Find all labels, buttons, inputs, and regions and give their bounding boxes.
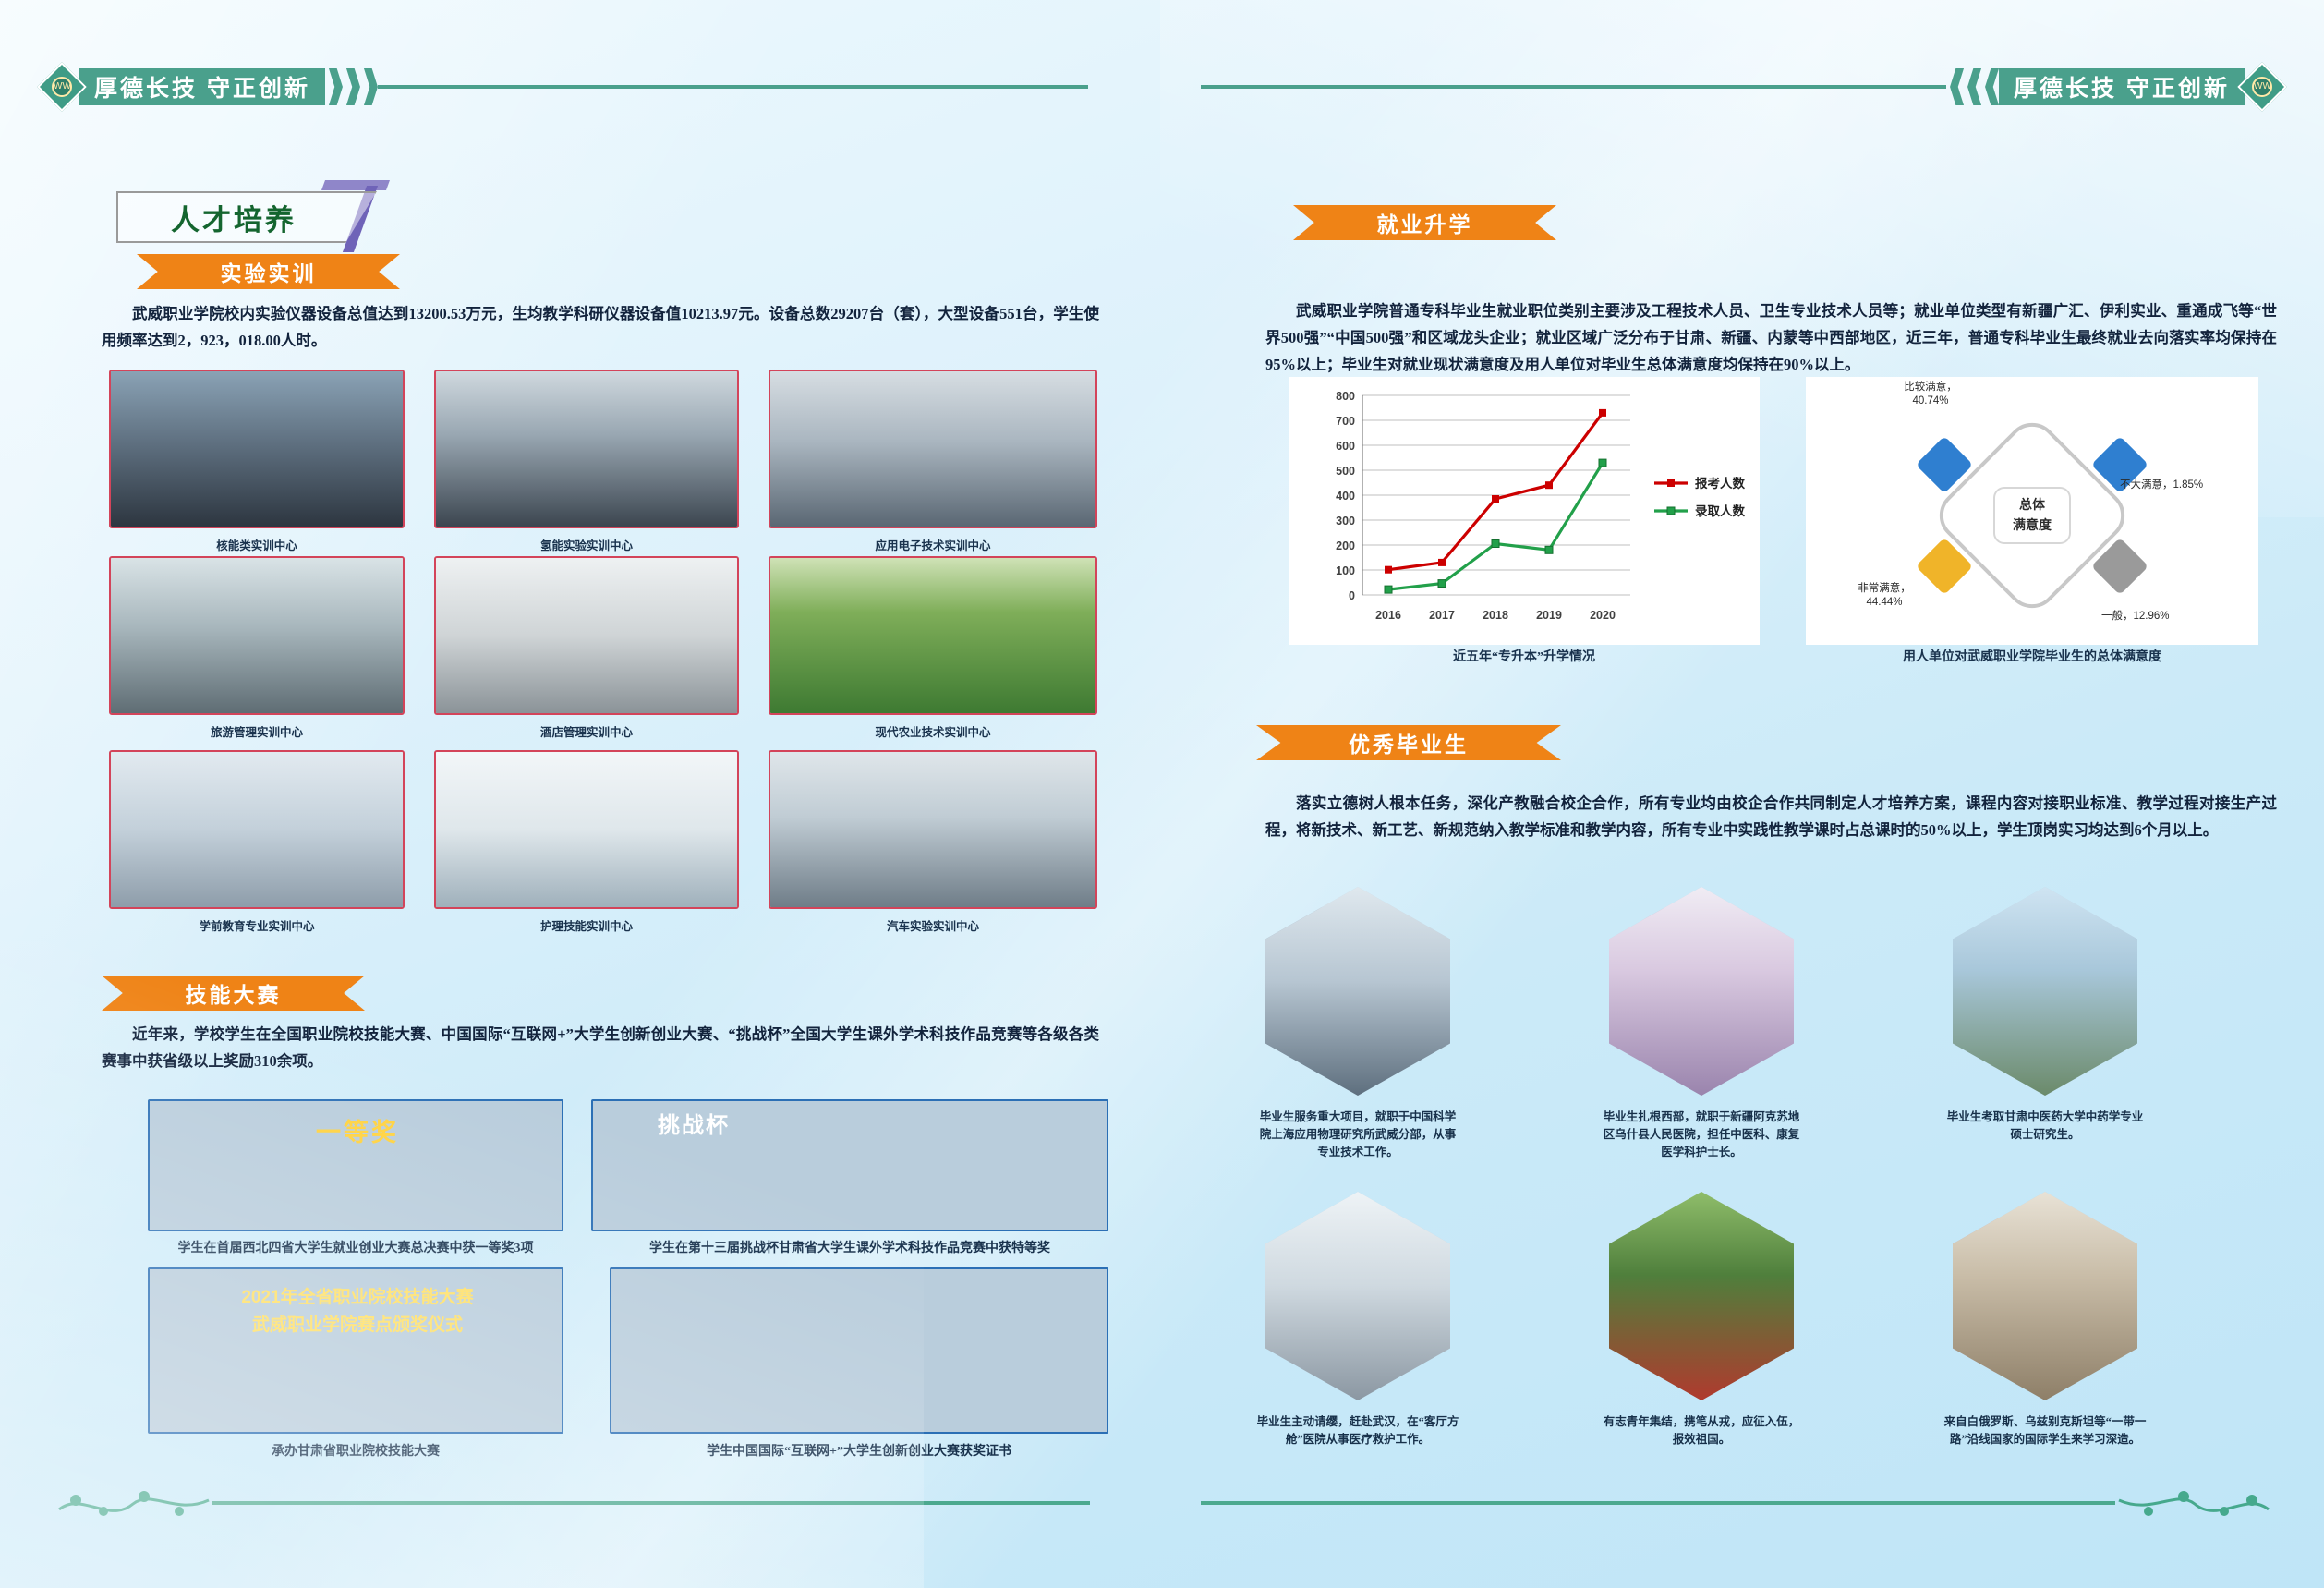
footer-vine-ornament-left — [55, 1487, 212, 1519]
right-footer — [1201, 1487, 2272, 1519]
photo-student-military-enlistment-ceremony — [1609, 1192, 1794, 1400]
caption-hydrogen-energy-training-center: 氢能实验实训中心 — [434, 536, 739, 553]
satisfaction-label-not-satisfied: 不大满意，1.85% — [2120, 479, 2258, 492]
section-title-talent-cultivation: 人才培养 — [116, 191, 377, 243]
caption-provincial-vocational-skills-contest: 承办甘肃省职业院校技能大赛 — [148, 1441, 563, 1460]
photo-graduate-nurse-with-flowers — [1609, 887, 1794, 1096]
photo-modern-agriculture-training-center — [769, 556, 1097, 715]
graduates-paragraph: 落实立德树人根本任务，深化产教融合校企合作，所有专业均由校企合作共同制定人才培养… — [1265, 790, 2277, 843]
svg-text:2020: 2020 — [1590, 609, 1616, 622]
lab-training-paragraph: 武威职业学院校内实验仪器设备总值达到13200.53万元，生均教学科研仪器设备值… — [102, 300, 1099, 354]
svg-text:录取人数: 录取人数 — [1695, 503, 1745, 518]
photo-graduate-in-laboratory — [1265, 887, 1450, 1096]
caption-first-prize-award-ceremony: 学生在首届西北四省大学生就业创业大赛总决赛中获一等奖3项 — [111, 1238, 600, 1256]
caption-modern-agriculture-training-center: 现代农业技术实训中心 — [769, 722, 1097, 740]
satisfaction-label-average: 一般，12.96% — [2101, 610, 2240, 624]
caption-student-military-enlistment-ceremony: 有志青年集结，携笔从戎，应征入伍，报效祖国。 — [1600, 1413, 1803, 1449]
svg-text:400: 400 — [1336, 490, 1355, 503]
ribbon-employment-advancement: 就业升学 — [1293, 205, 1556, 240]
caption-applied-electronics-training-center: 应用电子技术实训中心 — [769, 536, 1097, 553]
school-emblem-icon-right: WW — [2237, 62, 2287, 112]
brochure-spread: WW 厚德长技 守正创新 厚德长技 守正创新 WW 人才培养 实验实训 武威职业… — [0, 0, 2324, 1588]
left-footer-rule — [212, 1501, 1090, 1505]
svg-text:满意度: 满意度 — [2013, 517, 2052, 532]
svg-text:报考人数: 报考人数 — [1695, 476, 1745, 491]
right-footer-rule — [1201, 1501, 2115, 1505]
photo-challenge-cup-exhibition: 挑战杯 — [591, 1099, 1108, 1231]
overlay-challenge-cup: 挑战杯 — [658, 1107, 730, 1139]
skills-contest-paragraph: 近年来，学校学生在全国职业院校技能大赛、中国国际“互联网+”大学生创新创业大赛、… — [102, 1021, 1099, 1074]
svg-text:2019: 2019 — [1536, 609, 1562, 622]
left-header-rule — [378, 85, 1088, 89]
caption-hotel-management-training-center: 酒店管理实训中心 — [434, 722, 739, 740]
footer-vine-ornament-right — [2115, 1487, 2272, 1519]
ribbon-outstanding-graduates-label: 优秀毕业生 — [1349, 727, 1469, 758]
photo-nuclear-energy-training-center — [109, 370, 405, 528]
svg-text:总体: 总体 — [2019, 497, 2046, 512]
caption-internet-plus-award-certificates: 学生中国国际“互联网+”大学生创新创业大赛获奖证书 — [591, 1441, 1127, 1460]
caption-graduate-in-laboratory: 毕业生服务重大项目，就职于中国科学院上海应用物理研究所武威分部，从事专业技术工作… — [1256, 1109, 1459, 1161]
caption-challenge-cup-exhibition: 学生在第十三届挑战杯甘肃省大学生课外学术科技作品竞赛中获特等奖 — [582, 1238, 1118, 1256]
satisfaction-label-fairly-satisfied: 比较满意， 40.74% — [1861, 381, 2000, 408]
chart-card-advancement: 800 700 600 500 400 300 200 100 0 2016 2… — [1289, 377, 1760, 645]
photo-hotel-management-training-center — [434, 556, 739, 715]
photo-nursing-skills-training-center — [434, 750, 739, 909]
caption-tourism-management-training-center: 旅游管理实训中心 — [109, 722, 405, 740]
svg-text:300: 300 — [1336, 515, 1355, 527]
svg-text:100: 100 — [1336, 564, 1355, 577]
ribbon-outstanding-graduates: 优秀毕业生 — [1256, 725, 1561, 760]
caption-international-students-group: 来自白俄罗斯、乌兹别克斯坦等“一带一路”沿线国家的国际学生来学习深造。 — [1943, 1413, 2147, 1449]
photo-tourism-management-training-center — [109, 556, 405, 715]
left-header-chevrons — [325, 68, 378, 105]
page-title: 人才培养 — [171, 197, 322, 238]
svg-text:2016: 2016 — [1375, 609, 1401, 622]
left-header-motto: 厚德长技 守正创新 — [79, 68, 325, 105]
svg-text:0: 0 — [1349, 589, 1355, 602]
ribbon-employment-label: 就业升学 — [1377, 207, 1473, 238]
photo-graduate-postgraduate-student — [1953, 887, 2137, 1096]
satisfaction-card: 总体 满意度 比较满意， 40.74% 不大满意，1.85% 一般，12.96%… — [1806, 377, 2258, 645]
title-frame: 人才培养 — [116, 191, 377, 243]
svg-text:700: 700 — [1336, 415, 1355, 428]
svg-text:2018: 2018 — [1483, 609, 1508, 622]
photo-provincial-vocational-skills-contest: 2021年全省职业院校技能大赛 武威职业学院赛点颁奖仪式 — [148, 1267, 563, 1434]
photo-international-students-group — [1953, 1192, 2137, 1400]
photo-automobile-training-center — [769, 750, 1097, 909]
svg-text:500: 500 — [1336, 465, 1355, 478]
caption-nuclear-energy-training-center: 核能类实训中心 — [109, 536, 405, 553]
right-header-chevrons — [1946, 68, 1999, 105]
caption-graduates-in-protective-suits: 毕业生主动请缨，赶赴武汉，在“客厅方舱”医院从事医疗救护工作。 — [1256, 1413, 1459, 1449]
caption-advancement-chart: 近五年“专升本”升学情况 — [1289, 647, 1760, 665]
ribbon-skills-contest: 技能大赛 — [102, 976, 365, 1011]
right-header-motto: 厚德长技 守正创新 — [1999, 68, 2245, 105]
left-footer — [55, 1487, 1090, 1519]
caption-graduate-nurse-with-flowers: 毕业生扎根西部，就职于新疆阿克苏地区乌什县人民医院，担任中医科、康复医学科护士长… — [1600, 1109, 1803, 1161]
photo-hydrogen-energy-training-center — [434, 370, 739, 528]
ribbon-skills-contest-label: 技能大赛 — [186, 977, 282, 1009]
photo-applied-electronics-training-center — [769, 370, 1097, 528]
photo-internet-plus-award-certificates — [610, 1267, 1108, 1434]
ribbon-lab-training: 实验实训 — [137, 254, 400, 289]
ribbon-lab-training-label: 实验实训 — [221, 256, 317, 287]
svg-text:200: 200 — [1336, 539, 1355, 552]
satisfaction-label-very-satisfied: 非常满意， 44.44% — [1815, 582, 1954, 610]
caption-nursing-skills-training-center: 护理技能实训中心 — [434, 916, 739, 934]
photo-graduates-in-protective-suits — [1265, 1192, 1450, 1400]
photo-preschool-education-training-center — [109, 750, 405, 909]
right-header-rule — [1201, 85, 1946, 89]
line-chart-advancement: 800 700 600 500 400 300 200 100 0 2016 2… — [1289, 377, 1760, 645]
caption-automobile-training-center: 汽车实验实训中心 — [769, 916, 1097, 934]
employment-paragraph: 武威职业学院普通专科毕业生就业职位类别主要涉及工程技术人员、卫生专业技术人员等；… — [1265, 297, 2277, 378]
overlay-first-prize: 一等奖 — [150, 1112, 563, 1148]
overlay-provincial-contest: 2021年全省职业院校技能大赛 武威职业学院赛点颁奖仪式 — [150, 1284, 563, 1339]
svg-text:600: 600 — [1336, 440, 1355, 453]
caption-graduate-postgraduate-student: 毕业生考取甘肃中医药大学中药学专业硕士研究生。 — [1943, 1109, 2147, 1144]
svg-text:2017: 2017 — [1429, 609, 1455, 622]
left-header-banner: WW 厚德长技 守正创新 — [44, 68, 1088, 105]
caption-satisfaction-diagram: 用人单位对武威职业学院毕业生的总体满意度 — [1792, 647, 2272, 665]
title-decor-slab-top — [321, 180, 390, 190]
svg-text:800: 800 — [1336, 390, 1355, 403]
right-header-banner: 厚德长技 守正创新 WW — [1201, 68, 2280, 105]
photo-first-prize-award-ceremony: 一等奖 — [148, 1099, 563, 1231]
caption-preschool-education-training-center: 学前教育专业实训中心 — [109, 916, 405, 934]
